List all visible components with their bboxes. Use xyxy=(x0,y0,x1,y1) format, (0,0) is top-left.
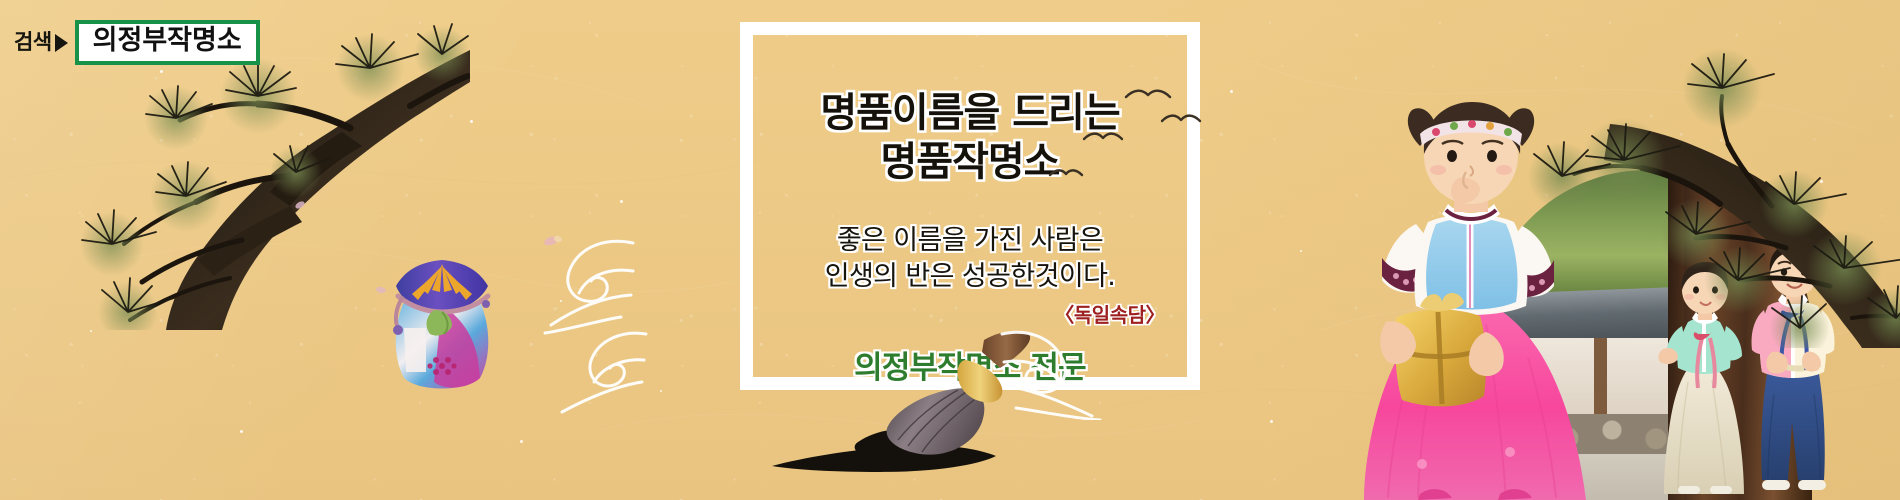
play-triangle-icon xyxy=(55,34,68,52)
lucky-pouch-icon xyxy=(382,232,502,392)
search-keyword-box[interactable]: 의정부작명소 xyxy=(75,20,260,65)
body-copy: 좋은 이름을 가진 사람은 인생의 반은 성공한것이다. xyxy=(825,223,1116,296)
body-line-1: 좋은 이름을 가진 사람은 xyxy=(825,223,1116,259)
cloud-swirl-icon xyxy=(538,320,648,415)
calligraphy-brush-icon xyxy=(770,330,1030,495)
search-label: 검색 xyxy=(14,32,53,53)
ink-pine-tree-icon xyxy=(1500,18,1900,348)
flying-birds-icon xyxy=(950,75,1210,205)
cloud-swirl-icon xyxy=(505,225,635,335)
body-line-2: 인생의 반은 성공한것이다. xyxy=(825,259,1116,295)
promotional-banner: 명품이름을 드리는 명품작명소 좋은 이름을 가진 사람은 인생의 반은 성공한… xyxy=(0,0,1900,500)
search-keyword-text: 의정부작명소 xyxy=(93,25,242,56)
cloud-swirl-icon xyxy=(1000,320,1120,420)
search-hint[interactable]: 검색 의정부작명소 xyxy=(14,20,260,65)
